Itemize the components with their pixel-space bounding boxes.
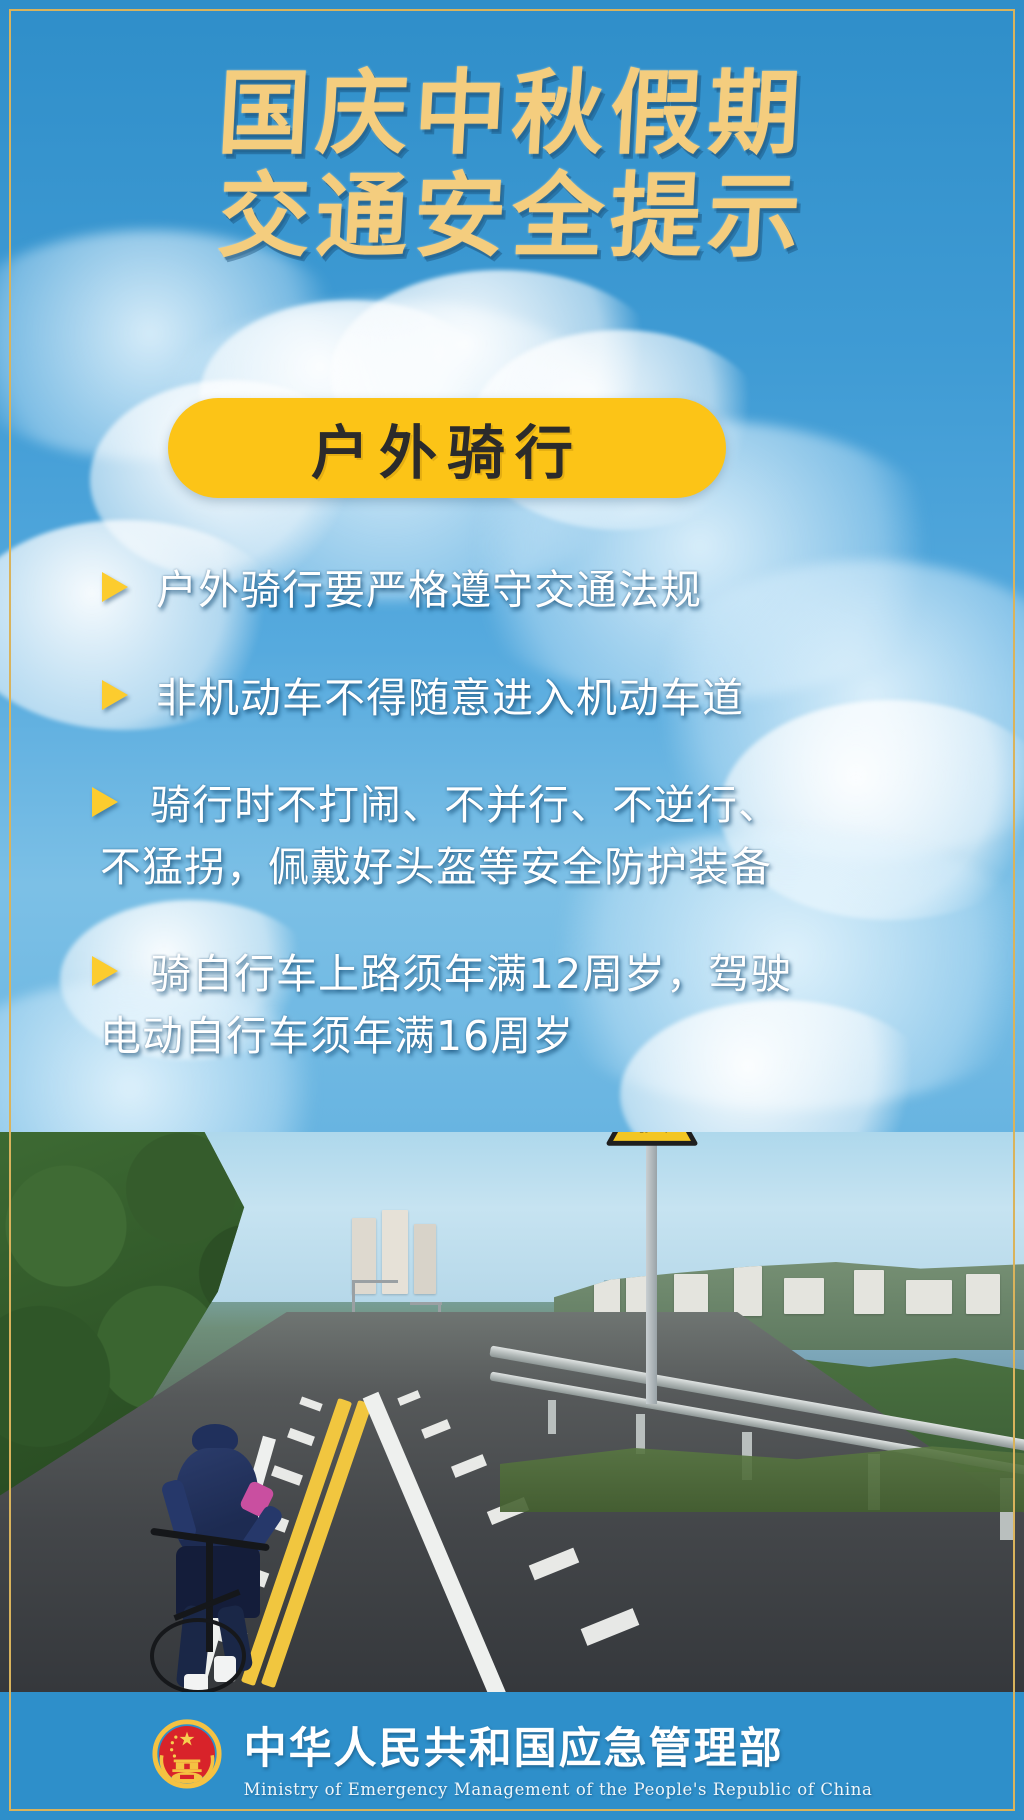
list-item: 骑自行车上路须年满12周岁，驾驶 电动自行车须年满16周岁 (0, 944, 1024, 1067)
bicycle-wheel (150, 1618, 246, 1692)
tip-text: 骑行时不打闹、不并行、不逆行、 不猛拐，佩戴好头盔等安全防护装备 (100, 775, 976, 898)
photo-apartment-tower (414, 1224, 436, 1294)
photo-street-lamp-arm (352, 1280, 398, 1283)
list-item: 户外骑行要严格遵守交通法规 (0, 560, 1024, 622)
title-line-1: 国庆中秋假期 (0, 62, 1024, 165)
slow-sign-label: 慢 (635, 1132, 670, 1138)
tips-list: 户外骑行要严格遵守交通法规 非机动车不得随意进入机动车道 骑行时不打闹、不并行、… (0, 560, 1024, 1113)
section-badge: 户外骑行 (168, 398, 726, 498)
traffic-sign-pole (646, 1132, 657, 1404)
national-emblem-icon (152, 1719, 222, 1793)
footer-text-block: 中华人民共和国应急管理部 Ministry of Emergency Manag… (244, 1714, 873, 1799)
list-item: 非机动车不得随意进入机动车道 (0, 668, 1024, 730)
section-badge-label: 户外骑行 (311, 406, 583, 490)
footer-bar: 中华人民共和国应急管理部 Ministry of Emergency Manag… (0, 1692, 1024, 1820)
title-line-2: 交通安全提示 (0, 165, 1024, 268)
cycling-photograph: 慢 (0, 1132, 1024, 1692)
organization-name-cn: 中华人民共和国应急管理部 (244, 1714, 873, 1776)
poster-root: 国庆中秋假期 交通安全提示 户外骑行 户外骑行要严格遵守交通法规 非机动车不得随… (0, 0, 1024, 1820)
organization-name-en: Ministry of Emergency Management of the … (244, 1780, 873, 1799)
tip-text: 非机动车不得随意进入机动车道 (100, 668, 976, 730)
photo-street-lamp-arm (410, 1302, 442, 1305)
tip-text: 户外骑行要严格遵守交通法规 (100, 560, 976, 622)
poster-title: 国庆中秋假期 交通安全提示 (0, 62, 1024, 268)
triangle-bullet-icon (92, 787, 118, 817)
list-item: 骑行时不打闹、不并行、不逆行、 不猛拐，佩戴好头盔等安全防护装备 (0, 775, 1024, 898)
tip-text: 骑自行车上路须年满12周岁，驾驶 电动自行车须年满16周岁 (100, 944, 976, 1067)
slow-down-sign: 慢 (604, 1132, 700, 1150)
triangle-bullet-icon (92, 956, 118, 986)
triangle-bullet-icon (102, 572, 128, 602)
triangle-bullet-icon (102, 680, 128, 710)
